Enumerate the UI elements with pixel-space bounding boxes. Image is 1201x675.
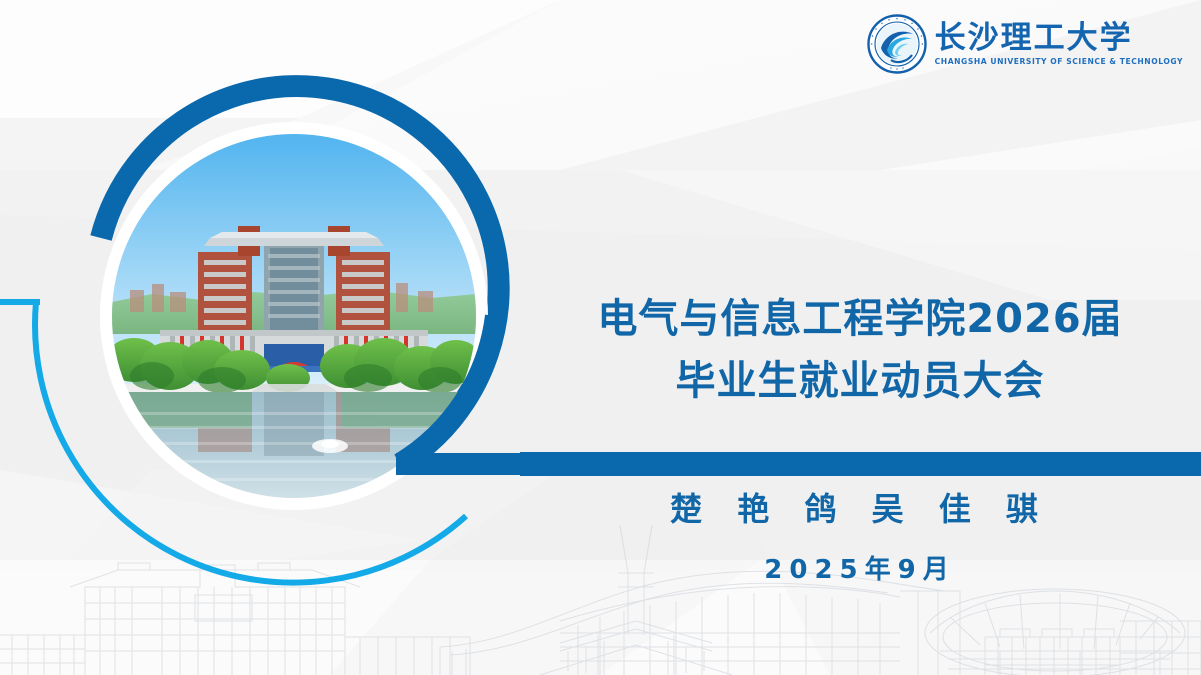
blue-horizontal-bar bbox=[520, 452, 1201, 476]
presentation-date: 2025年9月 bbox=[530, 549, 1190, 586]
logo-text-block: 长沙理工大学 CHANGSHA UNIVERSITY OF SCIENCE & … bbox=[935, 22, 1183, 67]
title-line-1: 电气与信息工程学院2026届 bbox=[530, 288, 1190, 350]
logo-english-name: CHANGSHA UNIVERSITY OF SCIENCE & TECHNOL… bbox=[935, 57, 1183, 66]
logo-chinese-name: 长沙理工大学 bbox=[935, 22, 1183, 55]
page-title: 电气与信息工程学院2026届 毕业生就业动员大会 bbox=[530, 288, 1190, 412]
campus-photo-circle bbox=[112, 134, 476, 498]
university-emblem-icon bbox=[867, 14, 927, 74]
presenter-names: 楚 艳 鸽 吴 佳 骐 bbox=[530, 484, 1190, 530]
university-logo: 长沙理工大学 CHANGSHA UNIVERSITY OF SCIENCE & … bbox=[867, 8, 1183, 80]
campus-library-lake-photo bbox=[112, 134, 476, 498]
presentation-slide: 长沙理工大学 CHANGSHA UNIVERSITY OF SCIENCE & … bbox=[0, 0, 1201, 675]
title-line-2: 毕业生就业动员大会 bbox=[530, 350, 1190, 412]
